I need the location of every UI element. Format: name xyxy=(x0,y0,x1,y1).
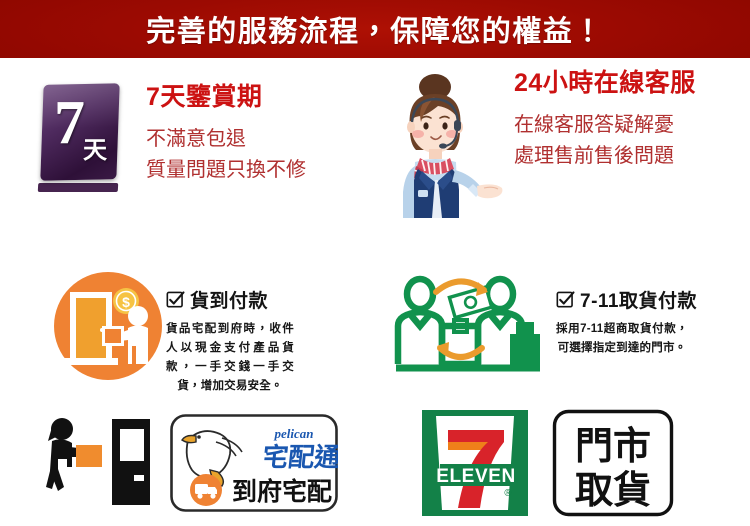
payment-heading-row: 貨到付款 xyxy=(166,286,294,313)
door-delivery-cash-icon: $ xyxy=(50,268,166,384)
service-label-text: 到府宅配 xyxy=(232,477,332,506)
pickup-label-line2: 取貨 xyxy=(575,470,651,512)
badge-number: 7 xyxy=(54,92,85,154)
feature-line-2: 處理售前售後問題 xyxy=(514,141,696,172)
feature-online-support: 24小時在線客服 在線客服答疑解憂 處理售前售後問題 xyxy=(380,58,750,263)
payment-cash-on-delivery: $ 貨到付款 貨品宅配到府時，收件人以現金支付產品貨款，一手交錢一手交貨，增加交… xyxy=(0,268,380,396)
feature-line-1: 不滿意包退 xyxy=(146,124,306,155)
payment-text-block: 貨到付款 貨品宅配到府時，收件人以現金支付產品貨款，一手交錢一手交貨，增加交易安… xyxy=(166,268,294,396)
brand-latin-text: pelican xyxy=(274,426,314,441)
store-pickup-label-box: 門市 取貨 xyxy=(552,409,674,517)
courier-at-door-icon xyxy=(34,413,154,513)
header-banner: 完善的服務流程，保障您的權益！ xyxy=(0,0,750,58)
store-counter-exchange-icon xyxy=(390,268,556,384)
payment-body: 採用7-11超商取貨付款，可選擇指定到達的門市。 xyxy=(556,320,688,358)
seven-day-badge-icon: 7 天 xyxy=(38,84,124,196)
feature-line-2: 質量問題只換不修 xyxy=(146,155,306,186)
page-title: 完善的服務流程，保障您的權益！ xyxy=(146,8,604,50)
features-row: 7 天 7天鑒賞期 不滿意包退 質量問題只換不修 xyxy=(0,58,750,263)
payment-text-block: 7-11取貨付款 採用7-11超商取貨付款，可選擇指定到達的門市。 xyxy=(556,268,697,358)
payment-heading-row: 7-11取貨付款 xyxy=(556,286,697,313)
feature-text-block: 24小時在線客服 在線客服答疑解憂 處理售前售後問題 xyxy=(514,70,696,172)
feature-heading: 24小時在線客服 xyxy=(514,70,696,98)
trademark-text: ® xyxy=(504,488,512,499)
home-delivery-group: pelican 宅配通 到府宅配 xyxy=(0,400,380,526)
payment-heading: 貨到付款 xyxy=(190,286,268,313)
logos-row: pelican 宅配通 到府宅配 xyxy=(0,400,750,526)
pelican-takkyubin-logo: pelican 宅配通 到府宅配 xyxy=(170,414,338,512)
store-name-text: ELEVEN xyxy=(436,466,516,487)
checkbox-checked-icon xyxy=(556,290,575,309)
customer-service-agent-icon xyxy=(388,70,508,220)
badge-unit: 天 xyxy=(83,139,107,163)
feature-seven-day-trial: 7 天 7天鑒賞期 不滿意包退 質量問題只換不修 xyxy=(0,58,380,263)
payment-methods-row: $ 貨到付款 貨品宅配到府時，收件人以現金支付產品貨款，一手交錢一手交貨，增加交… xyxy=(0,268,750,396)
svg-text:$: $ xyxy=(122,294,130,310)
payment-seven-eleven-pickup: 7-11取貨付款 採用7-11超商取貨付款，可選擇指定到達的門市。 xyxy=(380,268,750,396)
feature-text-block: 7天鑒賞期 不滿意包退 質量問題只換不修 xyxy=(146,84,306,186)
feature-heading: 7天鑒賞期 xyxy=(146,84,306,112)
pickup-label-line1: 門市 xyxy=(575,426,651,468)
feature-line-1: 在線客服答疑解憂 xyxy=(514,110,696,141)
brand-cn-text: 宅配通 xyxy=(261,442,338,472)
payment-heading: 7-11取貨付款 xyxy=(580,286,697,313)
seven-eleven-logo-icon: ELEVEN ® xyxy=(420,408,530,518)
payment-body: 貨品宅配到府時，收件人以現金支付產品貨款，一手交錢一手交貨，增加交易安全。 xyxy=(166,320,294,396)
badge-shadow-bar xyxy=(38,183,119,192)
store-pickup-group: ELEVEN ® 門市 取貨 xyxy=(380,400,750,526)
checkbox-checked-icon xyxy=(166,290,185,309)
